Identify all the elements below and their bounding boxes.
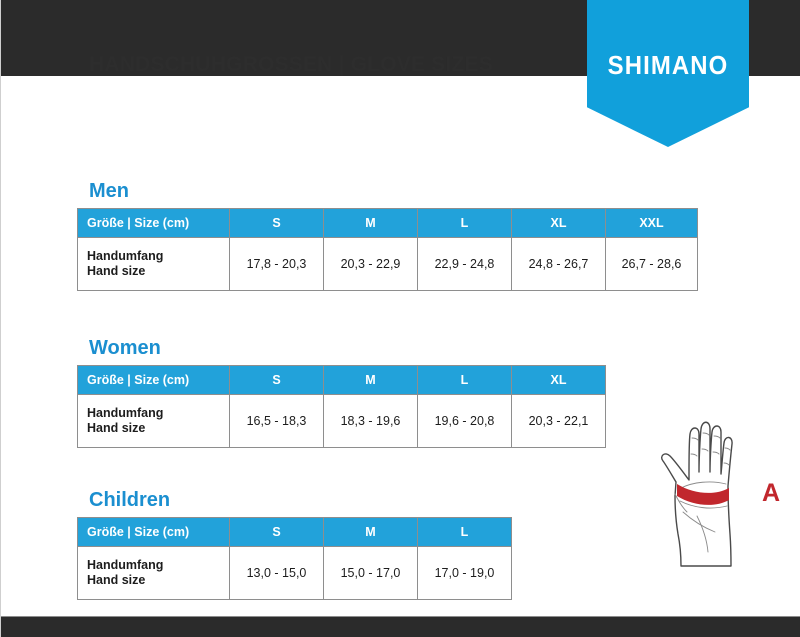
- column-header-xl: XL: [512, 209, 606, 238]
- column-header-s: S: [230, 209, 324, 238]
- row-label-de: Handumfang: [87, 249, 229, 264]
- table-header-row: Größe | Size (cm) S M L XL XXL: [78, 209, 698, 238]
- cell-men-s: 17,8 - 20,3: [230, 238, 324, 291]
- size-block-men: Men Größe | Size (cm) S M L XL XXL: [1, 180, 698, 291]
- measurement-band: [677, 484, 729, 505]
- cell-women-l: 19,6 - 20,8: [418, 395, 512, 448]
- table-header-row: Größe | Size (cm) S M L XL: [78, 366, 606, 395]
- column-header-l: L: [418, 209, 512, 238]
- shimano-banner: SHIMANO: [587, 0, 749, 147]
- size-table-men: Größe | Size (cm) S M L XL XXL Handumfan…: [77, 208, 698, 291]
- table-row: Handumfang Hand size 16,5 - 18,3 18,3 - …: [78, 395, 606, 448]
- cell-women-m: 18,3 - 19,6: [324, 395, 418, 448]
- row-label-en: Hand size: [87, 573, 229, 588]
- cell-men-xxl: 26,7 - 28,6: [606, 238, 698, 291]
- table-row: Handumfang Hand size 13,0 - 15,0 15,0 - …: [78, 547, 512, 600]
- size-block-children: Children Größe | Size (cm) S M L Handumf…: [1, 489, 512, 600]
- cell-children-s: 13,0 - 15,0: [230, 547, 324, 600]
- cell-women-xl: 20,3 - 22,1: [512, 395, 606, 448]
- column-header-l: L: [418, 366, 512, 395]
- block-title-children: Children: [89, 489, 512, 511]
- column-header-xl: XL: [512, 366, 606, 395]
- cell-men-m: 20,3 - 22,9: [324, 238, 418, 291]
- cell-men-xl: 24,8 - 26,7: [512, 238, 606, 291]
- shimano-logo: SHIMANO: [593, 50, 742, 81]
- cell-men-l: 22,9 - 24,8: [418, 238, 512, 291]
- row-label-hand-size: Handumfang Hand size: [78, 395, 230, 448]
- block-title-men: Men: [89, 180, 698, 202]
- page-title: HANDSCHUHGROSSEN | GLOVE SIZES: [89, 54, 493, 76]
- column-header-s: S: [230, 366, 324, 395]
- column-header-m: M: [324, 366, 418, 395]
- column-header-xxl: XXL: [606, 209, 698, 238]
- row-label-de: Handumfang: [87, 406, 229, 421]
- column-header-m: M: [324, 209, 418, 238]
- column-header-size-label: Größe | Size (cm): [78, 518, 230, 547]
- size-table-children: Größe | Size (cm) S M L Handumfang Hand …: [77, 517, 512, 600]
- column-header-l: L: [418, 518, 512, 547]
- row-label-en: Hand size: [87, 421, 229, 436]
- row-label-hand-size: Handumfang Hand size: [78, 238, 230, 291]
- column-header-m: M: [324, 518, 418, 547]
- size-block-women: Women Größe | Size (cm) S M L XL Handumf…: [1, 337, 606, 448]
- table-row: Handumfang Hand size 17,8 - 20,3 20,3 - …: [78, 238, 698, 291]
- row-label-de: Handumfang: [87, 558, 229, 573]
- cell-children-m: 15,0 - 17,0: [324, 547, 418, 600]
- size-chart-page: HANDSCHUHGROSSEN | GLOVE SIZES SHIMANO M…: [0, 0, 800, 637]
- block-title-women: Women: [89, 337, 606, 359]
- size-table-women: Größe | Size (cm) S M L XL Handumfang Ha…: [77, 365, 606, 448]
- table-header-row: Größe | Size (cm) S M L: [78, 518, 512, 547]
- column-header-size-label: Größe | Size (cm): [78, 366, 230, 395]
- row-label-en: Hand size: [87, 264, 229, 279]
- row-label-hand-size: Handumfang Hand size: [78, 547, 230, 600]
- column-header-size-label: Größe | Size (cm): [78, 209, 230, 238]
- measurement-label-a: A: [762, 481, 780, 506]
- cell-women-s: 16,5 - 18,3: [230, 395, 324, 448]
- column-header-s: S: [230, 518, 324, 547]
- page-footer-bar: [1, 616, 800, 637]
- cell-children-l: 17,0 - 19,0: [418, 547, 512, 600]
